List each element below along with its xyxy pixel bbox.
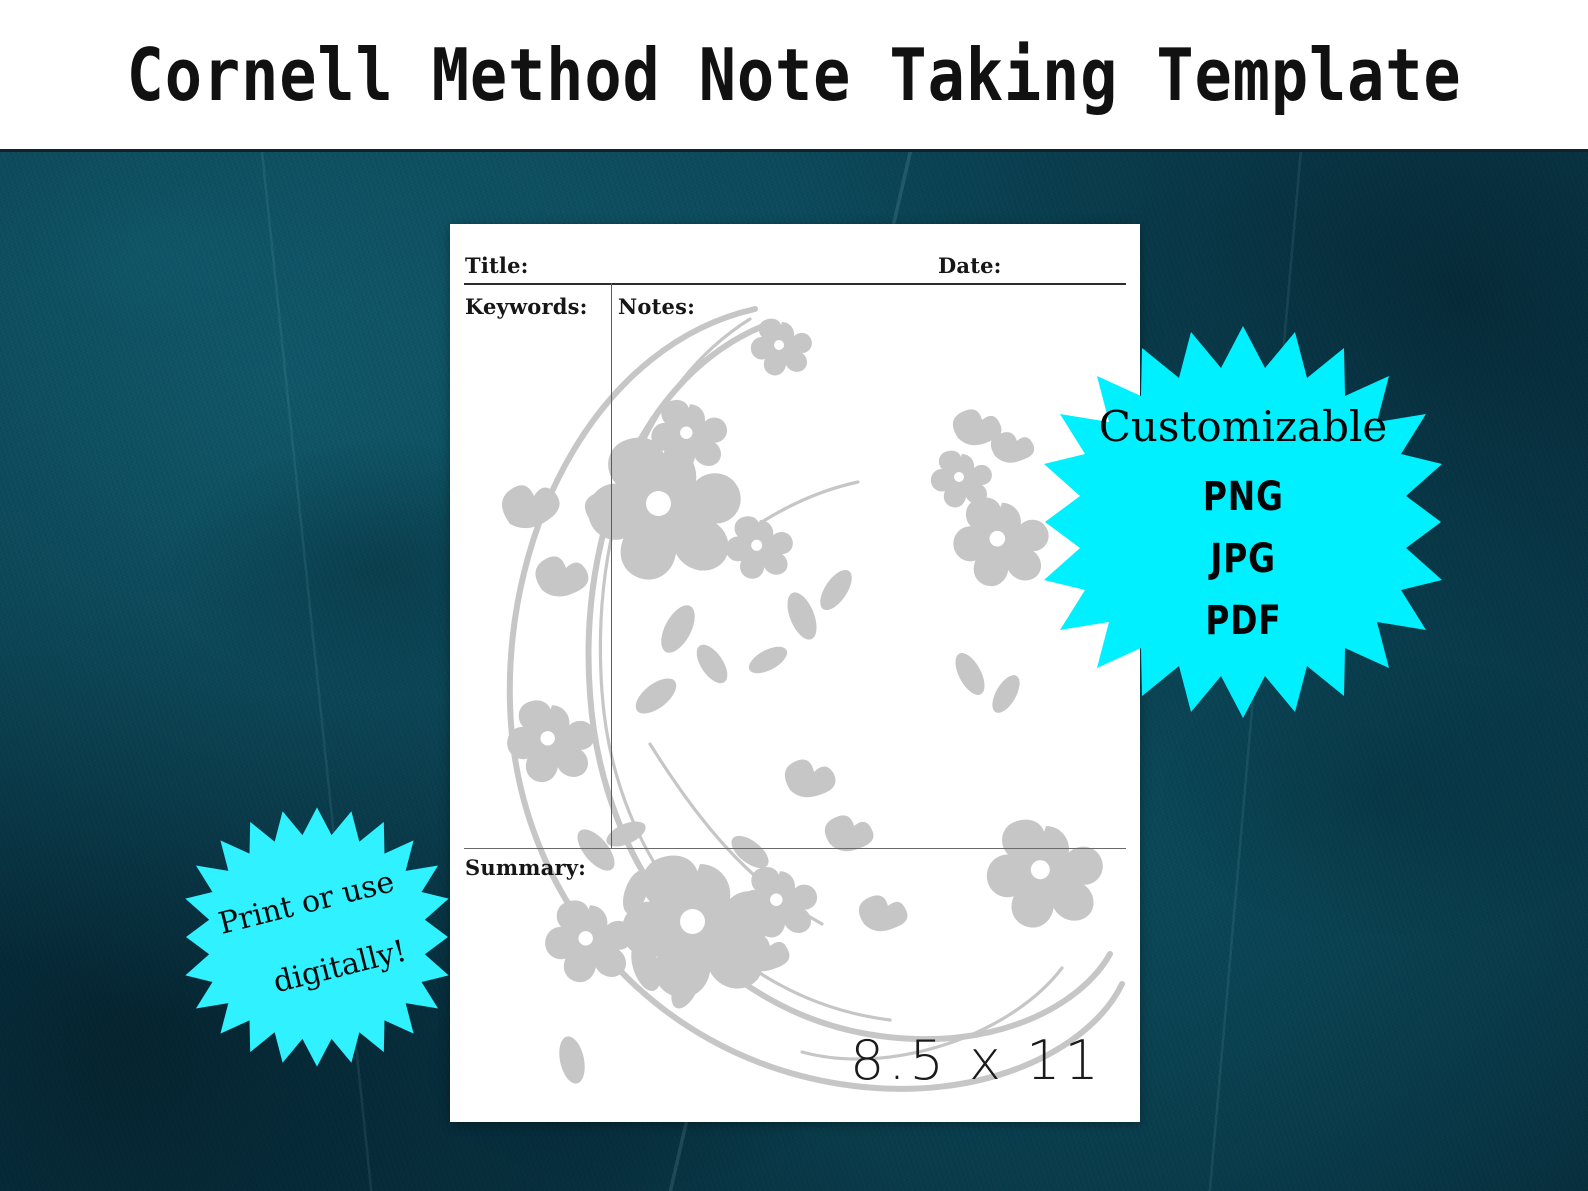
page-title: Cornell Method Note Taking Template — [127, 39, 1462, 111]
customizable-badge-content: Customizable PNG JPG PDF — [1043, 324, 1443, 720]
customizable-badge[interactable]: Customizable PNG JPG PDF — [1043, 324, 1443, 720]
format-list: PNG JPG PDF — [1194, 477, 1293, 641]
print-badge-line-1: Print or use — [216, 867, 397, 940]
customizable-heading: Customizable — [1099, 402, 1388, 451]
screenshot-stage: Cornell Method Note Taking Template — [0, 0, 1588, 1191]
floral-crescent-moon-artwork — [450, 224, 1140, 1122]
title-divider-line — [464, 283, 1126, 285]
format-jpg: JPG — [1210, 539, 1276, 579]
format-png: PNG — [1203, 477, 1284, 517]
print-badge-line-2: digitally! — [271, 936, 410, 998]
print-or-use-digitally-badge[interactable]: Print or use digitally! — [182, 806, 452, 1068]
field-label-date: Date: — [938, 255, 1002, 276]
cornell-note-template-page[interactable]: Title: Date: Keywords: Notes: Summary: 8… — [450, 224, 1140, 1122]
header-band: Cornell Method Note Taking Template — [0, 0, 1588, 152]
format-pdf: PDF — [1205, 601, 1281, 641]
keywords-notes-divider-line — [611, 283, 612, 848]
field-label-title: Title: — [465, 255, 529, 276]
summary-divider-line — [464, 848, 1126, 849]
field-label-summary: Summary: — [465, 857, 586, 878]
paper-size-label: 8.5 x 11 — [850, 1029, 1103, 1092]
field-label-keywords: Keywords: — [465, 296, 588, 317]
field-label-notes: Notes: — [618, 296, 695, 317]
